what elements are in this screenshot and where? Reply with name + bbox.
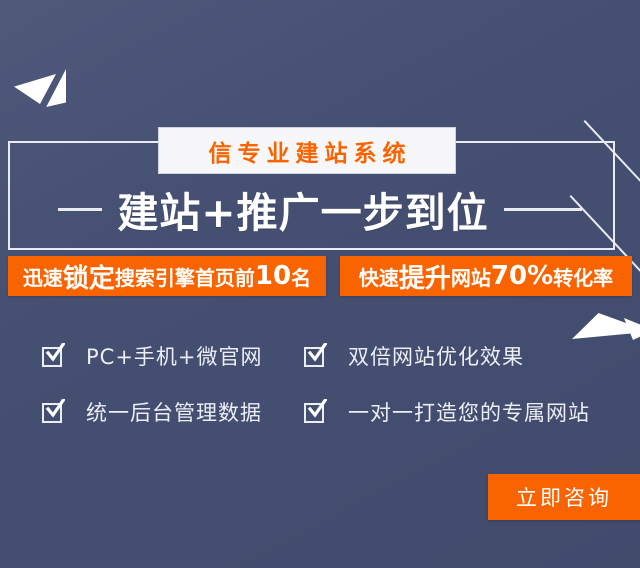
feature-label: 一对一打造您的专属网站 <box>348 397 590 427</box>
checkbox-checked-icon <box>304 345 328 367</box>
promo-banner: 信专业建站系统 建站+推广一步到位 迅速 锁定 搜索引擎首页前 10 名 快速 … <box>0 0 640 568</box>
badge: 信专业建站系统 <box>158 127 456 174</box>
strip-left-lead: 迅速 <box>23 262 63 291</box>
strip-left-mid: 锁定 <box>63 258 115 295</box>
badge-label: 信专业建站系统 <box>203 134 412 168</box>
strip-right-tail: 转化率 <box>553 262 613 291</box>
feature-row-1: PC+手机+微官网 双倍网站优化效果 <box>0 328 640 384</box>
strip-left-number: 10 <box>255 261 291 291</box>
strip-right-body: 网站 <box>451 262 491 291</box>
feature-item-one-on-one-custom-site: 一对一打造您的专属网站 <box>296 384 640 440</box>
seo-ranking-strip: 迅速 锁定 搜索引擎首页前 10 名 <box>8 256 326 296</box>
feature-item-double-optimization: 双倍网站优化效果 <box>296 328 640 384</box>
strip-right-lead: 快速 <box>359 262 399 291</box>
headline-text: 建站+推广一步到位 <box>117 179 488 239</box>
conversion-strip: 快速 提升 网站 70% 转化率 <box>340 256 632 296</box>
paper-plane-icon <box>14 74 56 104</box>
feature-list: PC+手机+微官网 双倍网站优化效果 <box>0 328 640 440</box>
strip-left-tail: 名 <box>291 262 311 291</box>
strip-right-mid: 提升 <box>399 258 451 295</box>
feature-label: PC+手机+微官网 <box>86 341 263 371</box>
checkbox-checked-icon <box>42 401 66 423</box>
feature-item-unified-backend: 统一后台管理数据 <box>0 384 296 440</box>
consult-now-button[interactable]: 立即咨询 <box>488 474 640 520</box>
feature-item-pc-mobile-wechat: PC+手机+微官网 <box>0 328 296 384</box>
strip-right-number: 70% <box>491 261 553 291</box>
feature-row-2: 统一后台管理数据 一对一打造您的专属网站 <box>0 384 640 440</box>
checkbox-checked-icon <box>304 401 328 423</box>
feature-label: 双倍网站优化效果 <box>348 341 524 371</box>
headline: 建站+推广一步到位 <box>0 180 640 238</box>
checkbox-checked-icon <box>42 345 66 367</box>
headline-rule-left <box>58 208 102 211</box>
feature-label: 统一后台管理数据 <box>86 397 262 427</box>
strip-left-body: 搜索引擎首页前 <box>115 262 255 291</box>
headline-rule-right <box>504 208 582 211</box>
